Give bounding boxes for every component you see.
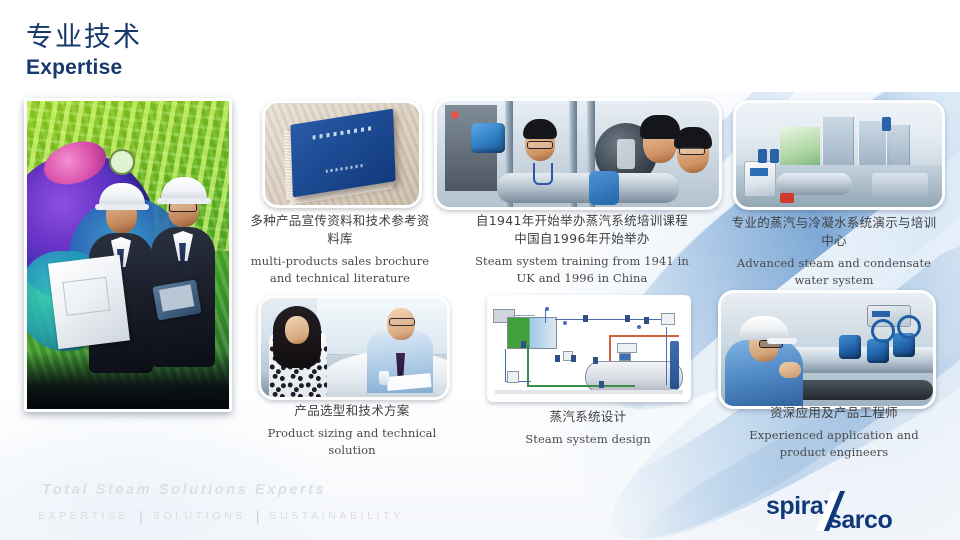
logo-word-sarco: sarco xyxy=(828,506,892,535)
training-glasses-icon xyxy=(527,141,553,149)
diagram-pipe-red-drop xyxy=(609,335,611,361)
meeting-man-glasses-icon xyxy=(389,318,415,326)
caption-center-english: Advanced steam and condensate water syst… xyxy=(728,255,940,288)
spirax-sarco-logo: spirax sarco xyxy=(766,492,938,532)
training-center-interior-photo xyxy=(733,100,945,210)
diagram-pipe-blue-top xyxy=(555,319,675,320)
diagram-valve-5 xyxy=(571,355,576,362)
field-engineer-photo xyxy=(718,290,936,409)
diagram-pipe-red-steam xyxy=(609,335,679,337)
steam-training-session-photo xyxy=(434,98,722,210)
client-meeting-photo xyxy=(258,295,450,400)
page-title: 专业技术 Expertise xyxy=(26,22,142,81)
slide-expertise: 专业技术 Expertise xyxy=(0,0,960,540)
background-top-white-band xyxy=(0,0,960,92)
page-title-english: Expertise xyxy=(26,55,142,81)
diagram-heat-exchanger xyxy=(507,317,557,349)
diagram-node-3 xyxy=(637,325,641,329)
hero-glasses-icon xyxy=(169,203,197,212)
footer-separator-2: | xyxy=(256,508,260,524)
diagram-pipe-blue-right xyxy=(666,327,667,385)
footer-separator-1: | xyxy=(139,508,143,524)
field-hand-wheel-2 xyxy=(897,315,921,339)
caption-sizing-english: Product sizing and technical solution xyxy=(254,425,450,458)
diagram-node-2 xyxy=(563,321,567,325)
center-blue-valve-1 xyxy=(758,149,767,163)
caption-engineers-chinese: 资深应用及产品工程师 xyxy=(730,404,938,422)
caption-engineers: 资深应用及产品工程师 Experienced application and p… xyxy=(730,404,938,460)
caption-center-chinese: 专业的蒸汽与冷凝水系统演示与培训中心 xyxy=(728,214,940,250)
center-blue-valve-2 xyxy=(770,149,779,163)
caption-sizing-chinese: 产品选型和技术方案 xyxy=(254,402,450,420)
caption-brochures-english: multi-products sales brochure and techni… xyxy=(250,253,430,286)
meeting-glass-cup xyxy=(379,371,389,385)
caption-design-chinese: 蒸汽系统设计 xyxy=(492,408,684,426)
meeting-woman-face xyxy=(285,316,309,344)
caption-training-english: Steam system training from 1941 in UK an… xyxy=(472,253,692,286)
caption-brochures: 多种产品宣传资料和技术参考资料库 multi-products sales br… xyxy=(250,212,430,287)
caption-engineers-english: Experienced application and product engi… xyxy=(730,427,938,460)
hero-pressure-gauge-icon xyxy=(109,149,135,175)
diagram-component-box-3 xyxy=(661,313,675,325)
training-horizontal-pipe xyxy=(497,173,679,203)
diagram-pipe-blue-riser xyxy=(545,309,546,323)
training-blue-valve-1 xyxy=(471,123,505,153)
diagram-valve-3 xyxy=(625,315,630,322)
diagram-valve-2 xyxy=(583,315,588,322)
engineers-reviewing-blueprint-photo xyxy=(24,98,232,412)
book-object xyxy=(290,109,395,198)
center-red-valve xyxy=(780,193,794,203)
field-insulated-pipe xyxy=(781,380,933,400)
training-blue-flange xyxy=(589,171,619,205)
diagram-component-box-5 xyxy=(507,371,519,383)
caption-brochures-chinese: 多种产品宣传资料和技术参考资料库 xyxy=(250,212,430,248)
field-engineer-hand xyxy=(779,362,801,378)
diagram-pipe-blue-left xyxy=(505,349,506,381)
diagram-valve-8 xyxy=(599,381,604,388)
footer-pillar-expertise: EXPERTISE xyxy=(38,510,129,522)
diagram-deaerator-column xyxy=(670,341,679,389)
caption-training-chinese: 自1941年开始举办蒸汽系统培训课程中国自1996年开始举办 xyxy=(472,212,692,248)
diagram-pipe-green-horizontal xyxy=(527,385,635,387)
footer-tagline: Total Steam Solutions Experts xyxy=(42,482,326,498)
diagram-valve-7 xyxy=(644,317,649,324)
center-blue-valve-3 xyxy=(882,117,891,131)
field-hand-wheel-1 xyxy=(871,319,895,343)
caption-center: 专业的蒸汽与冷凝水系统演示与培训中心 Advanced steam and co… xyxy=(728,214,940,289)
diagram-node-1 xyxy=(545,307,549,311)
caption-training: 自1941年开始举办蒸汽系统培训课程中国自1996年开始举办 Steam sys… xyxy=(472,212,692,287)
caption-sizing: 产品选型和技术方案 Product sizing and technical s… xyxy=(254,402,450,458)
book-cover-subtitle-text xyxy=(326,164,366,173)
field-blue-valve-1 xyxy=(839,335,861,359)
book-cover-title-text xyxy=(313,126,374,140)
diagram-valve-6 xyxy=(593,357,598,364)
center-window-greenery xyxy=(780,127,820,169)
diagram-pipe-gray-1 xyxy=(513,315,535,316)
diagram-valve-4 xyxy=(555,355,560,362)
footer-pillars: EXPERTISE | SOLUTIONS | SUSTAINABILITY xyxy=(38,508,404,524)
footer-pillar-sustainability: SUSTAINABILITY xyxy=(270,510,404,522)
caption-design-english: Steam system design xyxy=(492,431,684,448)
hero-blueprint-sheet xyxy=(48,255,130,349)
diagram-component-box-1 xyxy=(617,343,637,353)
steam-system-schematic-diagram xyxy=(487,295,691,402)
diagram-valve-1 xyxy=(521,341,526,348)
footer-pillar-solutions: SOLUTIONS xyxy=(153,510,246,522)
diagram-component-box-2 xyxy=(619,353,631,361)
blue-reference-book-photo xyxy=(262,100,422,208)
center-horizontal-tank xyxy=(776,173,852,195)
center-test-rig xyxy=(872,173,928,199)
caption-design: 蒸汽系统设计 Steam system design xyxy=(492,408,684,448)
training-lanyard xyxy=(533,163,553,185)
diagram-boiler-vessel xyxy=(585,361,683,393)
training-glasses-icon-2 xyxy=(679,147,705,155)
page-title-chinese: 专业技术 xyxy=(26,22,142,53)
diagram-baseline xyxy=(495,390,683,394)
center-control-unit xyxy=(744,161,776,197)
